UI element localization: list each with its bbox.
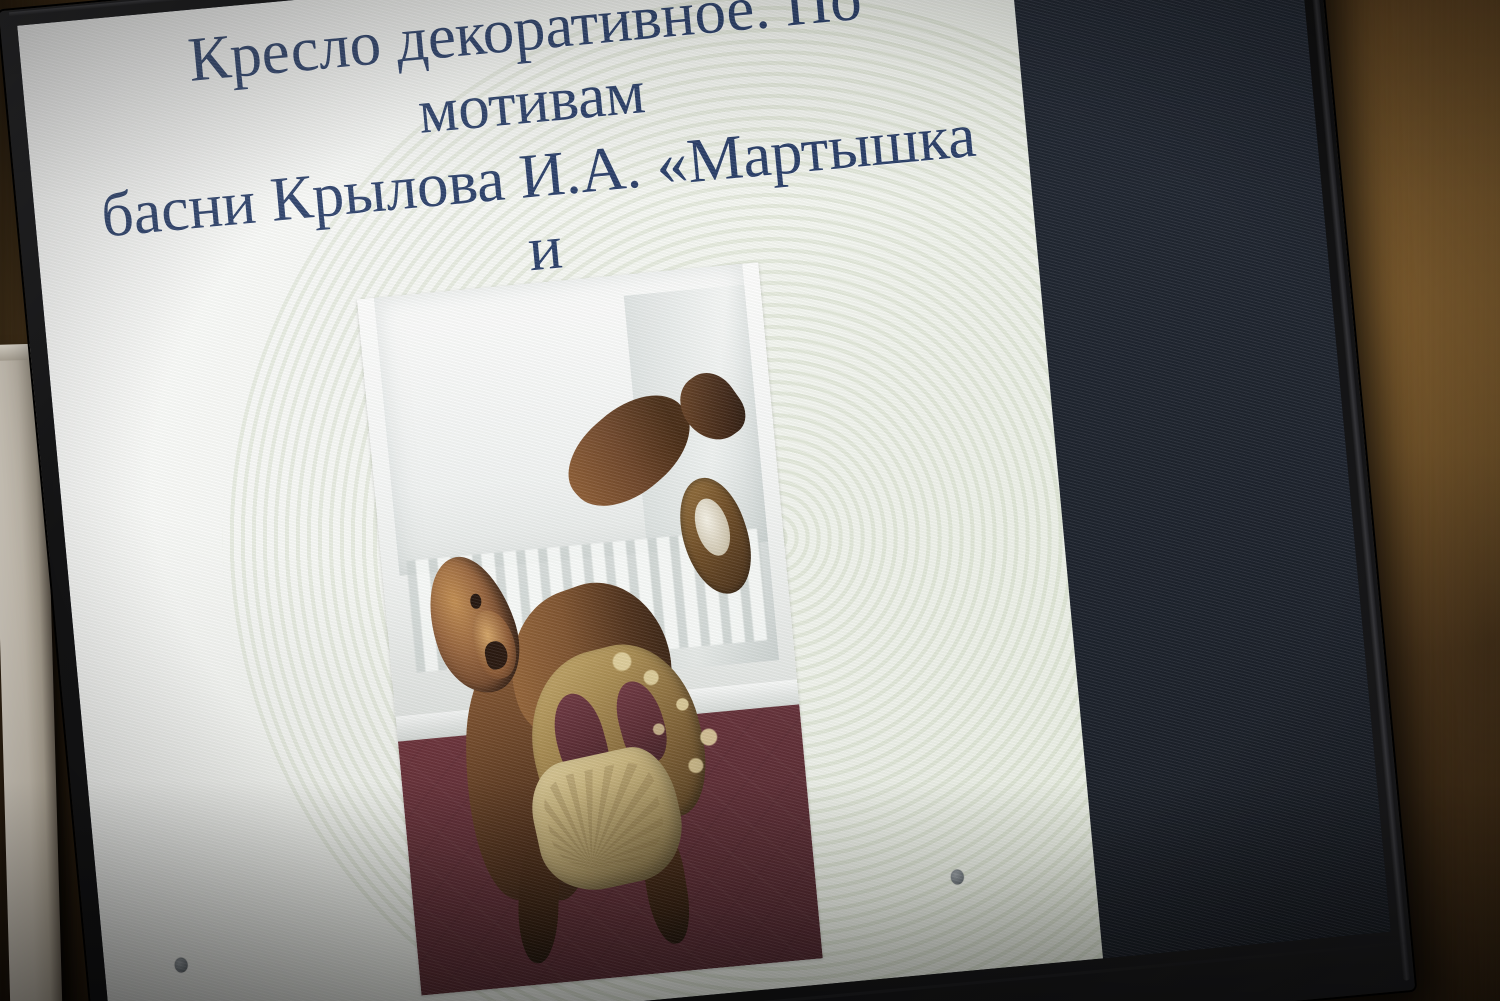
placeholder-dot-right-icon	[950, 869, 964, 885]
placeholder-dot-left-icon	[174, 957, 188, 973]
slide-photo-monkey-chair[interactable]	[357, 262, 823, 996]
room-photo-scene: Кресло декоративное. По мотивам басни Кр…	[0, 0, 1500, 1001]
carved-monkey-chair-sculpture	[357, 262, 823, 996]
presentation-slide[interactable]: Кресло декоративное. По мотивам басни Кр…	[17, 0, 1103, 1001]
monitor-screen[interactable]: Кресло декоративное. По мотивам басни Кр…	[17, 0, 1391, 1001]
lg-monitor[interactable]: Кресло декоративное. По мотивам басни Кр…	[0, 0, 1415, 1001]
